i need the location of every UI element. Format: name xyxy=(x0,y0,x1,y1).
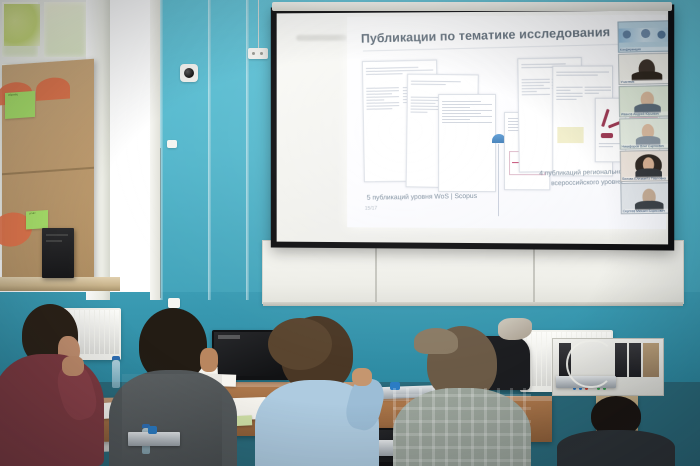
pc-drive-slot xyxy=(46,234,68,236)
window-foliage xyxy=(4,4,40,46)
video-conference-filmstrip: Конференция Участник Иванов Андрей Юрьев… xyxy=(617,20,668,214)
windowsill xyxy=(0,277,120,291)
video-tile-label: Никифоров Олег Сергеевич xyxy=(622,143,668,148)
power-outlet xyxy=(167,140,177,148)
video-tile[interactable]: Иванов Андрей Юрьевич xyxy=(619,85,669,117)
article-thumbnail xyxy=(438,94,496,192)
screen-smudge xyxy=(296,35,347,41)
video-tile-label: Белова Елизавета Павловна xyxy=(622,176,668,181)
slide-caption-left: 5 публикаций уровня WoS | Scopus xyxy=(367,193,477,202)
wall-cable xyxy=(160,148,161,298)
hair xyxy=(268,318,332,370)
cable-bundle xyxy=(566,340,614,388)
slide-title: Публикации по тематике исследования xyxy=(361,24,658,46)
hanging-wire xyxy=(258,0,259,48)
attendee-plaid-shirt xyxy=(392,326,532,466)
video-tile[interactable]: Участник xyxy=(618,53,668,86)
slide-page-number: 15/17 xyxy=(365,205,377,211)
wall-seam xyxy=(246,0,249,300)
screen-roller-case xyxy=(272,2,672,11)
sticky-note-text: отчёт xyxy=(29,211,46,215)
classroom-presentation-photo: образец отчёт Публикации по тематике исс… xyxy=(0,0,700,466)
slide-divider xyxy=(498,144,499,216)
plaid-pattern xyxy=(393,388,531,466)
video-tile[interactable]: Сергеев Михаил Борисович xyxy=(620,182,668,214)
power-outlet xyxy=(168,298,180,308)
torso xyxy=(557,430,675,466)
whiteboard-marker-tray xyxy=(263,302,683,306)
hair-thinning xyxy=(414,328,458,354)
cardboard-seam xyxy=(2,167,94,175)
video-tile-label: Участник xyxy=(621,79,669,84)
video-tile-label: Иванов Андрей Юрьевич xyxy=(621,111,668,116)
pc-tower xyxy=(42,228,74,278)
video-tile[interactable]: Конференция xyxy=(617,20,668,53)
sensor-lens xyxy=(184,68,194,78)
jacket-shading xyxy=(122,374,222,466)
projection-screen: Публикации по тематике исследования xyxy=(271,4,674,250)
video-tile-label: Сергеев Михаил Борисович xyxy=(623,208,668,213)
sticky-note: отчёт xyxy=(26,210,48,230)
cable-conduit xyxy=(150,0,160,300)
video-tile[interactable]: Никифоров Олег Сергеевич xyxy=(619,117,668,149)
hand xyxy=(62,356,84,376)
sticky-note: образец xyxy=(5,91,35,119)
lab-rig-beam xyxy=(128,432,180,446)
robot-arm-base xyxy=(601,133,613,138)
attendee-maroon-shirt xyxy=(0,300,120,466)
power-outlet xyxy=(248,48,268,59)
rig-sensor xyxy=(148,426,157,434)
motion-sensor-icon xyxy=(180,64,198,82)
window-pane xyxy=(2,2,38,57)
video-tile[interactable]: Белова Елизавета Павловна xyxy=(620,150,668,182)
hand xyxy=(352,368,372,386)
pc-drive-slot xyxy=(46,240,62,242)
highlight-block xyxy=(557,127,583,143)
video-tile-label: Конференция xyxy=(620,46,668,52)
attendee-far-right xyxy=(556,396,676,466)
face-profile xyxy=(200,348,218,372)
sticky-note-text: образец xyxy=(8,92,33,97)
attendee-blue-shirt xyxy=(252,316,382,466)
window-pane xyxy=(44,2,86,57)
projection-surface: Публикации по тематике исследования xyxy=(277,11,668,245)
cardboard-arc xyxy=(36,76,70,100)
wall-seam xyxy=(208,0,211,300)
